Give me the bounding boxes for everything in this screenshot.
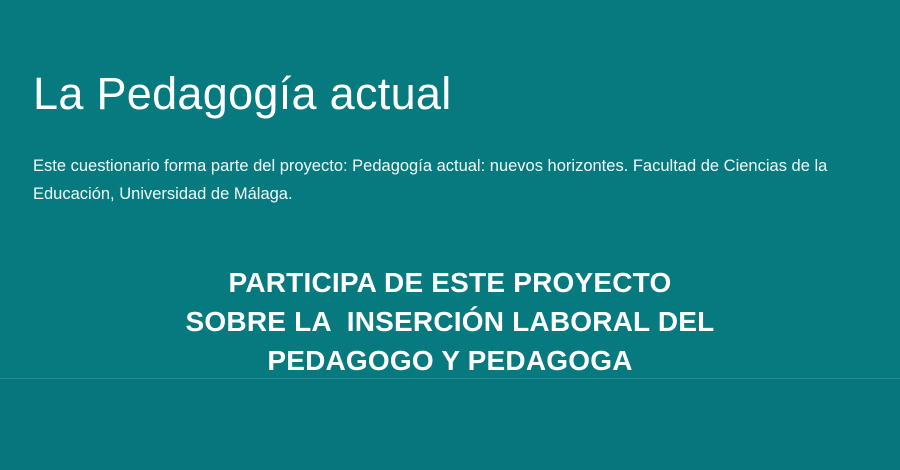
poster-lower-band [0, 379, 900, 470]
poster-title: La Pedagogía actual [33, 66, 452, 122]
poster-banner: La Pedagogía actual Este cuestionario fo… [0, 0, 900, 470]
callout-line-1: PARTICIPA DE ESTE PROYECTO [0, 263, 900, 302]
callout-line-2: SOBRE LA INSERCIÓN LABORAL DEL [0, 302, 900, 341]
poster-subtitle: Este cuestionario forma parte del proyec… [33, 152, 885, 208]
poster-callout: PARTICIPA DE ESTE PROYECTO SOBRE LA INSE… [0, 263, 900, 380]
callout-line-3: PEDAGOGO Y PEDAGOGA [0, 341, 900, 380]
